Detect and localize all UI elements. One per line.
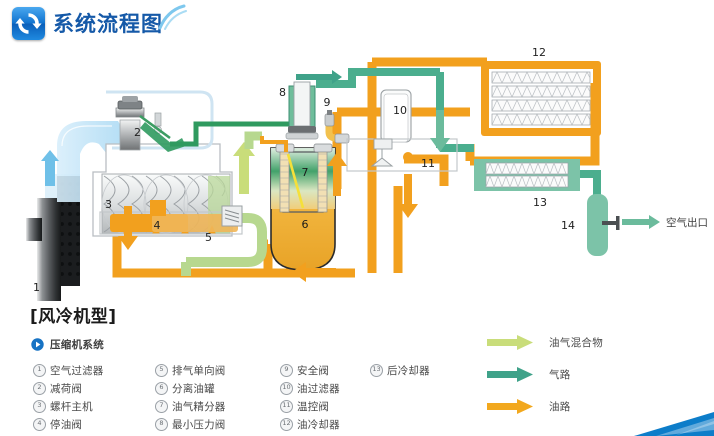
legend-column-3: 9 安全阀 10 油过滤器 11 温控阀 12 油冷却器 xyxy=(280,362,340,434)
flow-legend-label: 油路 xyxy=(549,399,571,414)
item-number-badge: 3 xyxy=(33,400,46,413)
after-cooler-13 xyxy=(474,159,580,191)
item-number-badge: 5 xyxy=(155,364,168,377)
item-label: 空气过滤器 xyxy=(50,363,104,378)
label-8: 8 xyxy=(279,86,286,99)
item-number-badge: 10 xyxy=(280,382,293,395)
item-label: 油气精分器 xyxy=(172,399,226,414)
arrow-right-icon xyxy=(487,399,533,414)
arrow-right-icon xyxy=(487,335,533,350)
label-10: 10 xyxy=(393,104,407,117)
air-outlet-arrow-icon xyxy=(622,215,660,229)
legend-item: 11 温控阀 xyxy=(280,398,340,415)
item-label: 螺杆主机 xyxy=(50,399,93,414)
label-11: 11 xyxy=(421,157,435,170)
item-number-badge: 7 xyxy=(155,400,168,413)
item-label: 安全阀 xyxy=(297,363,329,378)
item-number-badge: 4 xyxy=(33,418,46,431)
corner-decoration xyxy=(594,390,714,436)
item-number-badge: 13 xyxy=(370,364,383,377)
legend-item: 9 安全阀 xyxy=(280,362,340,379)
flow-type-legend: 油气混合物 气路 油路 xyxy=(487,326,603,422)
legend-item: 2 减荷阀 xyxy=(33,380,104,397)
legend-section-header: 压缩机系统 xyxy=(31,337,104,352)
legend-item: 12 油冷却器 xyxy=(280,416,340,433)
label-6: 6 xyxy=(302,218,309,231)
label-2: 2 xyxy=(134,126,141,139)
legend-item: 7 油气精分器 xyxy=(155,398,226,415)
legend-item: 5 排气单向阀 xyxy=(155,362,226,379)
flow-legend-row: 气路 xyxy=(487,358,603,390)
item-number-badge: 12 xyxy=(280,418,293,431)
arrow-right-icon xyxy=(487,367,533,382)
min-pressure-valve-8 xyxy=(286,82,318,139)
legend-item: 4 停油阀 xyxy=(33,416,104,433)
legend-column-4: 13 后冷却器 xyxy=(370,362,430,380)
flow-legend-label: 油气混合物 xyxy=(549,335,603,350)
page-root: 系统流程图 xyxy=(0,0,714,436)
item-number-badge: 11 xyxy=(280,400,293,413)
label-1: 1 xyxy=(33,281,40,294)
label-4: 4 xyxy=(154,219,161,232)
item-label: 油过滤器 xyxy=(297,381,340,396)
label-12: 12 xyxy=(532,46,546,59)
flow-legend-row: 油路 xyxy=(487,390,603,422)
label-3: 3 xyxy=(105,198,112,211)
item-label: 温控阀 xyxy=(297,399,329,414)
item-label: 排气单向阀 xyxy=(172,363,226,378)
item-number-badge: 8 xyxy=(155,418,168,431)
legend-item: 13 后冷却器 xyxy=(370,362,430,379)
label-5: 5 xyxy=(205,231,212,244)
item-label: 最小压力阀 xyxy=(172,417,226,432)
model-type-title: [风冷机型] xyxy=(30,302,117,327)
flow-legend-row: 油气混合物 xyxy=(487,326,603,358)
item-number-badge: 1 xyxy=(33,364,46,377)
item-number-badge: 9 xyxy=(280,364,293,377)
separator-tank-6 xyxy=(271,144,335,270)
item-label: 停油阀 xyxy=(50,417,82,432)
vessel-14 xyxy=(587,194,620,256)
mixture-flow-arrow-icon xyxy=(233,142,255,194)
flow-diagram: 12 13 xyxy=(0,26,714,301)
legend-column-1: 1 空气过滤器 2 减荷阀 3 螺杆主机 4 停油阀 xyxy=(33,362,104,434)
item-number-badge: 6 xyxy=(155,382,168,395)
label-14: 14 xyxy=(561,219,575,232)
flow-diagram-svg: 12 13 xyxy=(0,26,714,301)
item-number-badge: 2 xyxy=(33,382,46,395)
play-circle-icon xyxy=(31,338,44,351)
legend-column-2: 5 排气单向阀 6 分离油罐 7 油气精分器 8 最小压力阀 xyxy=(155,362,226,434)
valve-5 xyxy=(222,206,242,226)
item-label: 减荷阀 xyxy=(50,381,82,396)
label-9: 9 xyxy=(324,96,331,109)
legend-item: 8 最小压力阀 xyxy=(155,416,226,433)
flow-legend-label: 气路 xyxy=(549,367,571,382)
legend-item: 10 油过滤器 xyxy=(280,380,340,397)
air-outlet-label: 空气出口 xyxy=(666,216,708,229)
legend-item: 6 分离油罐 xyxy=(155,380,226,397)
item-label: 油冷却器 xyxy=(297,417,340,432)
legend-item: 1 空气过滤器 xyxy=(33,362,104,379)
item-label: 后冷却器 xyxy=(387,363,430,378)
legend-section-label: 压缩机系统 xyxy=(50,337,104,352)
label-7: 7 xyxy=(302,166,309,179)
item-label: 分离油罐 xyxy=(172,381,215,396)
label-13: 13 xyxy=(533,196,547,209)
legend-item: 3 螺杆主机 xyxy=(33,398,104,415)
